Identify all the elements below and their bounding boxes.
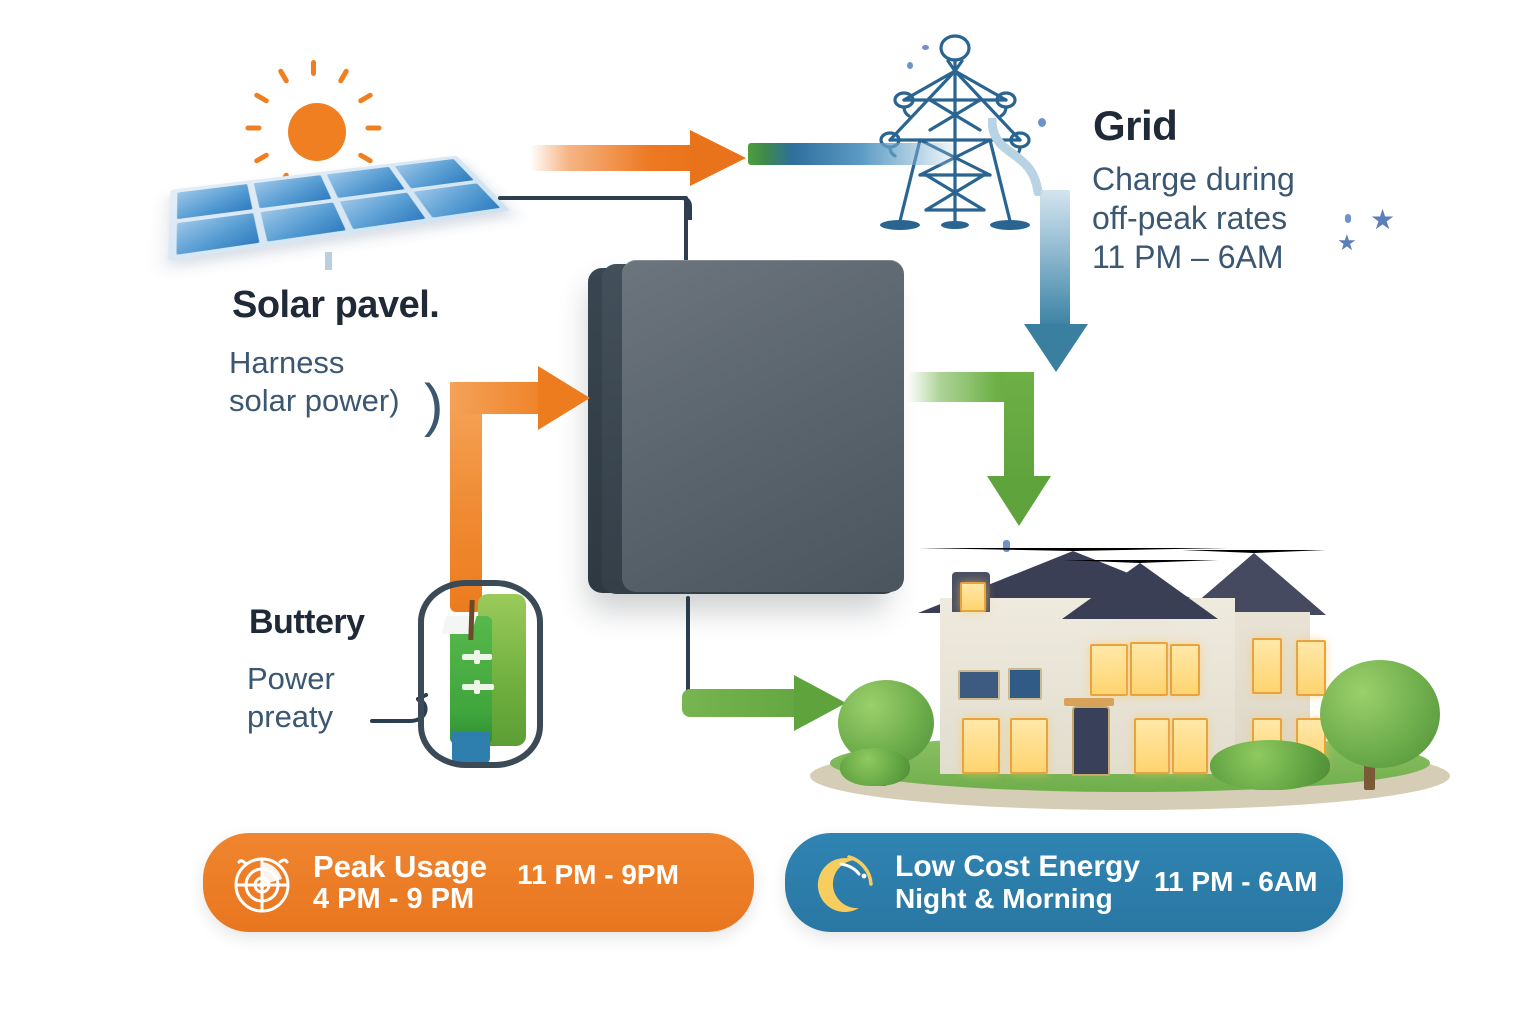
connector-line-solar-to-unit — [498, 196, 688, 200]
window — [1010, 718, 1048, 774]
radar-clock-icon — [225, 846, 299, 920]
peak-usage-subtitle: 4 PM - 9 PM — [313, 883, 487, 915]
star-icon: ★ — [1337, 232, 1357, 254]
connector-corner — [668, 196, 692, 220]
orange-elbow-arrow — [450, 352, 600, 612]
house-icon — [800, 520, 1460, 820]
window — [1170, 644, 1200, 696]
connector-line-vertical — [684, 198, 688, 264]
window-dark — [958, 670, 1000, 700]
battery-title: Buttery — [249, 605, 365, 641]
window — [1252, 638, 1282, 694]
bush — [1210, 740, 1330, 790]
low-cost-energy-texts: Low Cost Energy Night & Morning — [895, 851, 1140, 915]
green-elbow-arrow — [908, 372, 1068, 532]
solar-cell — [177, 213, 260, 255]
solar-cell — [261, 202, 346, 241]
solar-cell — [395, 159, 474, 188]
solar-panel-leg — [325, 252, 332, 270]
low-cost-energy-pill[interactable]: Low Cost Energy Night & Morning 11 PM - … — [785, 833, 1343, 932]
solar-cell — [177, 184, 253, 219]
decorative-curve: ) — [424, 372, 443, 439]
blue-arrow-down — [1024, 190, 1088, 372]
low-cost-energy-title: Low Cost Energy — [895, 851, 1140, 883]
peak-usage-texts: Peak Usage 4 PM - 9 PM — [313, 850, 487, 916]
solar-title: Solar pavel. — [232, 286, 439, 326]
sparkle-dot-icon — [922, 45, 929, 50]
window — [1296, 640, 1326, 696]
window — [1090, 644, 1128, 696]
window-dark — [1008, 668, 1042, 700]
window — [960, 582, 986, 612]
solar-cell — [254, 175, 331, 208]
solar-panel-icon — [175, 140, 505, 275]
solar-cell — [326, 167, 404, 198]
peak-usage-pill[interactable]: Peak Usage 4 PM - 9 PM 11 PM - 9PM — [203, 833, 754, 932]
solar-cell — [413, 183, 500, 218]
low-cost-energy-time: 11 PM - 6AM — [1154, 866, 1317, 898]
tree-crown — [1320, 660, 1440, 768]
blue-arrow-curve — [988, 118, 1068, 196]
peak-usage-time: 11 PM - 9PM — [517, 859, 679, 891]
peak-usage-title: Peak Usage — [313, 850, 487, 883]
orange-arrow-right — [530, 130, 745, 184]
solar-cell — [339, 192, 425, 229]
infographic-canvas: Solar pavel. Harness solar power) — [0, 0, 1536, 1024]
sparkle-dot-icon — [1345, 214, 1351, 223]
window — [1130, 642, 1168, 696]
door-hood — [1064, 698, 1114, 706]
bush — [840, 748, 910, 786]
grid-gradient-bar — [748, 143, 953, 165]
low-cost-energy-subtitle: Night & Morning — [895, 883, 1140, 914]
window — [962, 718, 1000, 774]
roof-gable — [1062, 560, 1218, 619]
front-door — [1072, 706, 1110, 776]
window — [1172, 718, 1208, 774]
window — [1134, 718, 1170, 774]
battery-icon — [418, 580, 543, 775]
star-icon: ★ — [1370, 206, 1395, 234]
grid-title: Grid — [1093, 104, 1177, 148]
moon-icon — [807, 846, 881, 920]
sparkle-dot-icon — [907, 62, 913, 69]
